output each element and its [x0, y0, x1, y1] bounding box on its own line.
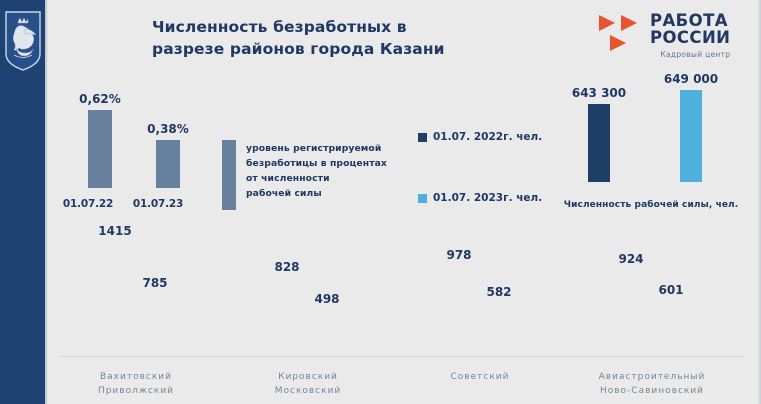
legend-swatch-2023	[418, 194, 427, 203]
district-bars-0: 1415 785	[52, 240, 220, 356]
district-category-1-line-1: Кировский	[224, 371, 392, 385]
note-marker-bar	[222, 140, 236, 210]
force-value-label-1: 649 000	[654, 72, 728, 86]
district-value-2022-3: 924	[606, 252, 656, 266]
force-column-0: 643 300	[588, 78, 610, 182]
district-bar-2022-2	[446, 264, 472, 356]
presentation-slide: Численность безработных в разрезе районо…	[0, 0, 761, 404]
chart-legend: 01.07. 2022г. чел. 01.07. 2023г. чел.	[418, 131, 558, 211]
district-category-3: Авиастроительный Ново-Савиновский	[568, 371, 736, 398]
district-value-2023-1: 498	[302, 292, 352, 306]
district-bars-2: 978 582	[396, 240, 564, 356]
district-category-0: Вахитовский Приволжский	[52, 371, 220, 398]
note-line-1: уровень регистрируемой	[246, 142, 424, 157]
logo-line-2: РОССИИ	[650, 29, 730, 46]
district-category-0-line-1: Вахитовский	[52, 371, 220, 385]
district-category-1-line-2: Московский	[224, 385, 392, 399]
pct-column-0: 0,62%	[88, 92, 112, 188]
legend-label-2023: 01.07. 2023г. чел.	[433, 192, 542, 204]
page-title-line-2: разрезе районов города Казани	[152, 38, 482, 60]
district-value-2022-2: 978	[434, 248, 484, 262]
pct-column-1: 0,38%	[156, 92, 180, 188]
coat-of-arms-kazan-icon	[4, 10, 42, 72]
force-axis-caption: Численность рабочей силы, чел.	[556, 200, 746, 210]
district-category-3-line-2: Ново-Савиновский	[568, 385, 736, 399]
district-group-0: 1415 785 Вахитовский Приволжский	[52, 228, 220, 400]
district-bar-2023-0	[142, 292, 168, 356]
district-value-2022-1: 828	[262, 260, 312, 274]
rate-definition-note: уровень регистрируемой безработицы в про…	[222, 140, 422, 210]
district-bar-2023-1	[314, 308, 340, 356]
district-bar-2022-0	[102, 240, 128, 356]
sidebar-edge-divider	[45, 0, 48, 404]
district-group-2: 978 582 Советский	[396, 228, 564, 400]
pct-category-0: 01.07.22	[50, 198, 126, 210]
district-group-3: 924 601 Авиастроительный Ново-Савиновски…	[568, 228, 736, 400]
district-category-2: Советский	[396, 371, 564, 385]
note-line-3: от численности	[246, 172, 424, 187]
note-line-4: рабочей силы	[246, 187, 424, 202]
district-category-2-line-1: Советский	[396, 371, 564, 385]
district-bar-2022-3	[618, 268, 644, 356]
district-bars-1: 828 498	[224, 240, 392, 356]
legend-item-2023: 01.07. 2023г. чел.	[418, 192, 542, 204]
unemployment-rate-chart: 0,62% 01.07.22 0,38% 01.07.23	[60, 92, 240, 210]
pct-value-label-1: 0,38%	[130, 122, 206, 136]
district-value-2023-2: 582	[474, 285, 524, 299]
note-text: уровень регистрируемой безработицы в про…	[246, 142, 424, 202]
district-bar-2022-1	[274, 276, 300, 356]
page-title-line-1: Численность безработных в	[152, 16, 482, 38]
district-category-1: Кировский Московский	[224, 371, 392, 398]
district-bars-3: 924 601	[568, 240, 736, 356]
district-bar-2023-2	[486, 301, 512, 356]
force-column-1: 649 000	[680, 64, 702, 182]
note-line-2: безработицы в процентах	[246, 157, 424, 172]
legend-label-2022: 01.07. 2022г. чел.	[433, 131, 542, 143]
legend-item-2022: 01.07. 2022г. чел.	[418, 131, 542, 143]
district-value-2023-0: 785	[130, 276, 180, 290]
district-value-2023-3: 601	[646, 283, 696, 297]
triangles-logo-icon	[598, 14, 644, 58]
pct-bar-0	[88, 110, 112, 188]
pct-bar-1	[156, 140, 180, 188]
district-category-0-line-2: Приволжский	[52, 385, 220, 399]
district-category-3-line-1: Авиастроительный	[568, 371, 736, 385]
rabota-rossii-logo: РАБОТА РОССИИ Кадровый центр	[598, 12, 758, 68]
district-group-1: 828 498 Кировский Московский	[224, 228, 392, 400]
pct-category-1: 01.07.23	[120, 198, 196, 210]
unemployed-by-district-chart: 1415 785 Вахитовский Приволжский 828 498…	[52, 228, 752, 400]
page-title: Численность безработных в разрезе районо…	[152, 16, 482, 61]
force-bar-2023	[680, 90, 702, 182]
legend-swatch-2022	[418, 133, 427, 142]
district-value-2022-0: 1415	[90, 224, 140, 238]
pct-value-label-0: 0,62%	[62, 92, 138, 106]
force-value-label-0: 643 300	[562, 86, 636, 100]
logo-line-1: РАБОТА	[650, 12, 730, 29]
logo-subtitle: Кадровый центр	[650, 50, 730, 59]
district-bar-2023-3	[658, 299, 684, 356]
force-bar-2022	[588, 104, 610, 182]
logo-text: РАБОТА РОССИИ Кадровый центр	[650, 12, 730, 59]
labour-force-chart: 643 300 649 000 Численность рабочей силы…	[556, 78, 756, 210]
